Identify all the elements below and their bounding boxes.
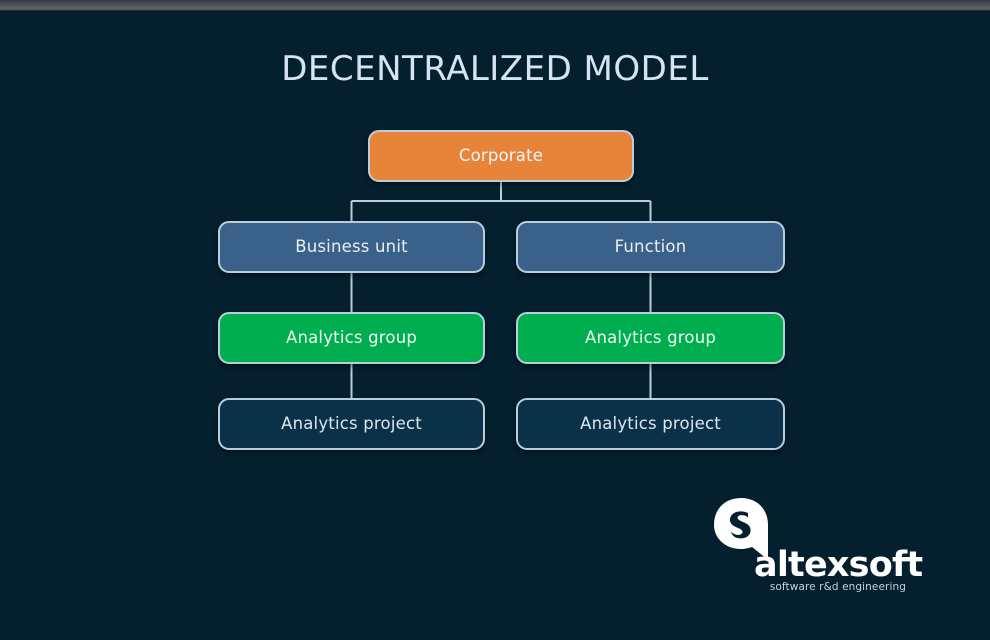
node-analytics-project-left[interactable]: Analytics project — [218, 398, 485, 450]
node-function-label: Function — [615, 239, 687, 256]
node-analytics-group-left[interactable]: Analytics group — [218, 312, 485, 364]
altexsoft-wordmark: altexsoft — [754, 548, 906, 583]
node-analytics-project-left-label: Analytics project — [281, 416, 422, 433]
node-corporate[interactable]: Corporate — [368, 130, 634, 182]
node-analytics-group-right[interactable]: Analytics group — [516, 312, 785, 364]
altexsoft-logo: altexsoft software r&d engineering — [706, 498, 906, 598]
node-business-unit[interactable]: Business unit — [218, 221, 485, 273]
altexsoft-tagline: software r&d engineering — [736, 582, 906, 593]
node-business-unit-label: Business unit — [295, 239, 408, 256]
node-analytics-project-right-label: Analytics project — [580, 416, 721, 433]
node-corporate-label: Corporate — [459, 148, 543, 165]
node-analytics-group-right-label: Analytics group — [585, 330, 716, 347]
page-title: DECENTRALIZED MODEL — [0, 49, 990, 89]
slide-canvas: DECENTRALIZED MODEL Corporate Business u… — [0, 11, 990, 640]
node-analytics-project-right[interactable]: Analytics project — [516, 398, 785, 450]
node-function[interactable]: Function — [516, 221, 785, 273]
window-chrome-strip — [0, 0, 990, 11]
node-analytics-group-left-label: Analytics group — [286, 330, 417, 347]
